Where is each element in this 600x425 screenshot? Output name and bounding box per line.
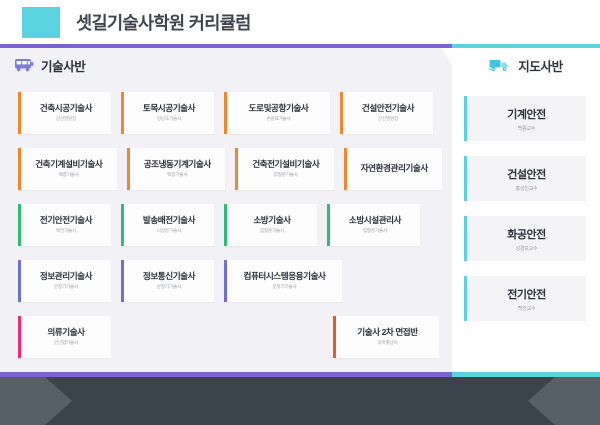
course-instructor: 문정기기술사 [272,284,296,290]
course-card[interactable]: 건축전기설비기술사임형준기술사 [235,148,334,190]
sidebar-course-title: 화공안전 [507,226,545,242]
logo-block [22,7,60,38]
course-card-body: 소방기술사임형준기술사 [227,204,317,246]
course-title: 소방시설관리사 [349,216,401,226]
course-card[interactable]: 자연환경관리기술사 [344,148,443,190]
tab-accent-bar-left [0,44,452,48]
course-title: 토목시공기술사 [143,104,195,114]
sidebar-course-instructor: 성경모교수 [515,245,537,252]
sidebar-course-instructor: 홍성민교수 [515,185,537,192]
tab-label-gisulsaban: 기술사반 [41,56,85,75]
course-card-body: 자연환경관리기술사 [347,148,443,190]
sidebar-card-body: 건설안전홍성민교수 [467,156,586,201]
course-title: 자연환경관리기술사 [361,164,428,174]
course-instructor: 안선업기술사 [54,340,78,346]
course-row: 전기안전기술사백전기술사발송배전기술사나상문기술사소방기술사임형준기술사소방시설… [18,204,452,252]
course-grid: 건축시공기술사강산영원장토목시공기술사강남호기술사도로및공항기술사손원표기술사건… [0,82,452,372]
sidebar-card-body: 화공안전성경모교수 [467,216,586,261]
tab-gisulsaban[interactable]: 기술사반 [0,48,462,82]
course-card-body: 정보통신기술사문정기기술사 [124,260,214,302]
course-instructor: 과목별상이 [377,340,397,346]
page-header: 셋길기술사학원 커리큘럼 [0,0,600,44]
course-card-body: 건축시공기술사강산영원장 [21,92,111,134]
course-card-body: 의류기술사안선업기술사 [21,316,111,358]
course-instructor: 임형준기술사 [274,172,298,178]
course-card[interactable]: 소방시설관리사임형준기술사 [327,204,420,246]
course-card[interactable]: 건축시공기술사강산영원장 [18,92,111,134]
course-card-body: 컴퓨터시스템응용기술사문정기기술사 [227,260,342,302]
course-title: 건설안전기술사 [362,104,414,114]
sidebar-course-instructor: 백전교수 [518,305,536,312]
course-instructor: 손원표기술사 [266,116,290,122]
course-card-body: 건설안전기술사강신영원장 [343,92,433,134]
course-title: 정보관리기술사 [40,272,92,282]
course-card[interactable]: 컴퓨터시스템응용기술사문정기기술사 [224,260,342,302]
course-title: 정보통신기술사 [143,272,195,282]
courses-panel: 건축시공기술사강산영원장토목시공기술사강남호기술사도로및공항기술사손원표기술사건… [0,82,452,372]
course-card-body: 토목시공기술사강남호기술사 [124,92,214,134]
course-title: 소방기술사 [253,216,290,226]
course-row: 건축시공기술사강산영원장토목시공기술사강남호기술사도로및공항기술사손원표기술사건… [18,92,452,140]
page-footer [0,377,600,425]
course-card[interactable]: 건설안전기술사강신영원장 [340,92,433,134]
course-card[interactable]: 기술사 2차 면접반과목별상이 [333,316,439,358]
tab-bar: 기술사반 지도사반 [0,44,600,82]
course-instructor: 강신영원장 [378,116,398,122]
course-instructor: 백전기술사 [56,228,76,234]
course-instructor: 임형준기술사 [363,228,387,234]
course-card-body: 공조냉동기계기술사백종기술사 [130,148,226,190]
course-instructor: 강산영원장 [56,116,76,122]
course-title: 전기안전기술사 [40,216,92,226]
page-title: 셋길기술사학원 커리큘럼 [76,10,251,35]
course-instructor: 임형준기술사 [260,228,284,234]
course-card[interactable]: 정보관리기술사문정기기술사 [18,260,111,302]
course-title: 도로및공항기술사 [249,104,309,114]
course-row: 의류기술사안선업기술사기술사 2차 면접반과목별상이 [18,316,452,364]
sidebar-course-card[interactable]: 전기안전백전교수 [464,276,586,321]
course-title: 공조냉동기계기술사 [144,160,211,170]
course-card-body: 건축전기설비기술사임형준기술사 [238,148,334,190]
course-card-body: 정보관리기술사문정기기술사 [21,260,111,302]
tab-label-jidosaban: 지도사반 [518,56,562,75]
sidebar-course-title: 건설안전 [507,166,545,182]
sidebar-course-title: 기계안전 [507,106,545,122]
course-card[interactable]: 토목시공기술사강남호기술사 [121,92,214,134]
course-card[interactable]: 전기안전기술사백전기술사 [18,204,111,246]
course-card-body: 도로및공항기술사손원표기술사 [227,92,330,134]
course-instructor: 강남호기술사 [157,116,181,122]
course-title: 건축기계설비기술사 [35,160,102,170]
sidebar-card-body: 전기안전백전교수 [467,276,586,321]
course-instructor: 문정기기술사 [54,284,78,290]
course-instructor: 백종기술사 [167,172,187,178]
sidebar-course-title: 전기안전 [507,286,545,302]
course-title: 발송배전기술사 [143,216,195,226]
course-card-body: 발송배전기술사나상문기술사 [124,204,214,246]
course-card[interactable]: 건축기계설비기술사백종기술사 [18,148,117,190]
tab-jidosaban[interactable]: 지도사반 [452,48,600,82]
course-card[interactable]: 소방기술사임형준기술사 [224,204,317,246]
course-title: 건축시공기술사 [40,104,92,114]
course-instructor: 백종기술사 [59,172,79,178]
course-card-body: 기술사 2차 면접반과목별상이 [336,316,439,358]
sidebar-course-instructor: 백종교수 [518,125,536,132]
footer-chevron-right [528,377,600,425]
course-card[interactable]: 정보통신기술사문정기기술사 [121,260,214,302]
course-title: 컴퓨터시스템응용기술사 [243,272,325,282]
sidebar-course-card[interactable]: 화공안전성경모교수 [464,216,586,261]
course-card[interactable]: 도로및공항기술사손원표기술사 [224,92,330,134]
sidebar-course-card[interactable]: 기계안전백종교수 [464,96,586,141]
course-title: 기술사 2차 면접반 [357,328,417,338]
sidebar-card-body: 기계안전백종교수 [467,96,586,141]
bus-icon [14,58,34,72]
sidebar-course-card[interactable]: 건설안전홍성민교수 [464,156,586,201]
course-title: 건축전기설비기술사 [252,160,319,170]
course-card-body: 건축기계설비기술사백종기술사 [21,148,117,190]
course-instructor: 문정기기술사 [157,284,181,290]
course-card-body: 소방시설관리사임형준기술사 [330,204,420,246]
sidebar-panel: 기계안전백종교수건설안전홍성민교수화공안전성경모교수전기안전백전교수 [452,82,600,372]
course-row: 건축기계설비기술사백종기술사공조냉동기계기술사백종기술사건축전기설비기술사임형준… [18,148,452,196]
sidebar-list: 기계안전백종교수건설안전홍성민교수화공안전성경모교수전기안전백전교수 [452,82,600,321]
course-card[interactable]: 의류기술사안선업기술사 [18,316,111,358]
footer-chevron-left [0,377,72,425]
course-instructor: 나상문기술사 [157,228,181,234]
truck-icon [489,58,511,72]
course-card-body: 전기안전기술사백전기술사 [21,204,111,246]
course-title: 의류기술사 [47,328,84,338]
course-card[interactable]: 발송배전기술사나상문기술사 [121,204,214,246]
course-row: 정보관리기술사문정기기술사정보통신기술사문정기기술사컴퓨터시스템응용기술사문정기… [18,260,452,308]
course-card[interactable]: 공조냉동기계기술사백종기술사 [127,148,226,190]
